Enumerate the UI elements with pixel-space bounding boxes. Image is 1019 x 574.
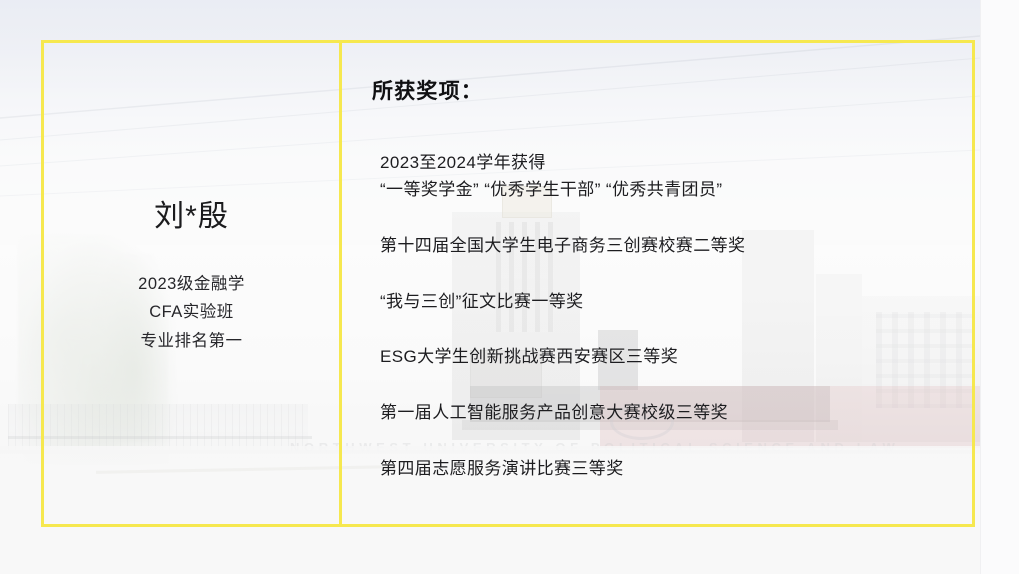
presentation-slide: NORTHWEST UNIVERSITY OF POLITICAL SCIENC… — [0, 0, 1019, 574]
award-item: “我与三创”征文比赛一等奖 — [380, 289, 957, 316]
slide-right-margin — [980, 0, 1019, 574]
award-item: ESG大学生创新挑战赛西安赛区三等奖 — [380, 344, 957, 371]
student-detail-class: CFA实验班 — [149, 302, 234, 323]
student-detail-major: 2023级金融学 — [138, 274, 245, 295]
student-identity-panel: 刘*殷 2023级金融学 CFA实验班 专业排名第一 — [44, 43, 339, 524]
awards-heading: 所获奖项： — [372, 81, 957, 102]
award-item: 第十四届全国大学生电子商务三创赛校赛二等奖 — [380, 233, 957, 260]
student-detail-rank: 专业排名第一 — [141, 331, 243, 352]
award-item: 2023至2024学年获得 “一等奖学金” “优秀学生干部” “优秀共青团员” — [380, 150, 957, 204]
award-item: 第一届人工智能服务产品创意大赛校级三等奖 — [380, 400, 957, 427]
student-name: 刘*殷 — [154, 202, 229, 232]
awards-list: 2023至2024学年获得 “一等奖学金” “优秀学生干部” “优秀共青团员” … — [372, 150, 957, 483]
student-details: 2023级金融学 CFA实验班 专业排名第一 — [138, 274, 245, 352]
awards-panel: 所获奖项： 2023至2024学年获得 “一等奖学金” “优秀学生干部” “优秀… — [342, 43, 975, 524]
award-item: 第四届志愿服务演讲比赛三等奖 — [380, 456, 957, 483]
